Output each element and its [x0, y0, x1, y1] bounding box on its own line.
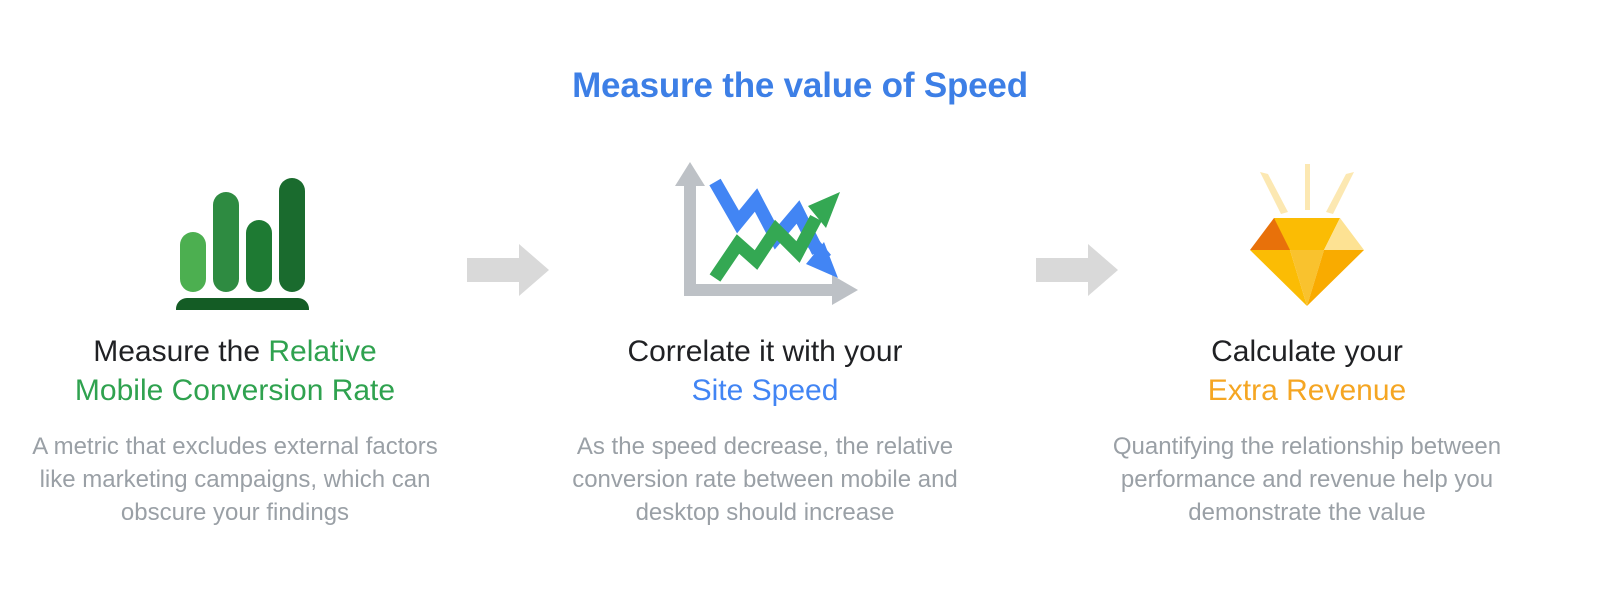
arrow-right-icon — [463, 240, 553, 300]
step-2-icon-wrap — [530, 160, 1000, 310]
step-2-heading: Correlate it with your Site Speed — [530, 332, 1000, 410]
step-2-body: As the speed decrease, the relative conv… — [530, 430, 1000, 529]
step-1-heading-accent-2: Mobile Conversion Rate — [75, 374, 395, 407]
step-3-heading: Calculate your Extra Revenue — [1072, 332, 1542, 410]
trend-lines-chart-icon — [660, 160, 870, 310]
step-3-heading-prefix: Calculate your — [1211, 335, 1403, 368]
bar-chart-icon — [160, 170, 310, 310]
steps-container: Measure the Relative Mobile Conversion R… — [0, 160, 1600, 560]
step-3-body: Quantifying the relationship between per… — [1072, 430, 1542, 529]
infographic-canvas: Measure the value of Speed Measure the R… — [0, 0, 1600, 612]
arrow-right-2-wrap — [1032, 240, 1122, 305]
step-1-heading-accent: Relative — [268, 335, 376, 368]
arrow-right-1-wrap — [463, 240, 553, 305]
step-card-3: Calculate your Extra Revenue Quantifying… — [1072, 160, 1542, 529]
step-1-body: A metric that excludes external factors … — [0, 430, 470, 529]
arrow-right-icon — [1032, 240, 1122, 300]
step-card-2: Correlate it with your Site Speed As the… — [530, 160, 1000, 529]
page-title: Measure the value of Speed — [0, 66, 1600, 106]
step-1-heading: Measure the Relative Mobile Conversion R… — [0, 332, 470, 410]
step-3-heading-accent: Extra Revenue — [1208, 374, 1406, 407]
step-2-heading-accent: Site Speed — [692, 374, 839, 407]
step-3-icon-wrap — [1072, 160, 1542, 310]
step-1-icon-wrap — [0, 160, 470, 310]
diamond-icon — [1222, 160, 1392, 310]
step-card-1: Measure the Relative Mobile Conversion R… — [0, 160, 470, 529]
step-2-heading-prefix: Correlate it with your — [627, 335, 902, 368]
step-1-heading-prefix: Measure the — [93, 335, 268, 368]
